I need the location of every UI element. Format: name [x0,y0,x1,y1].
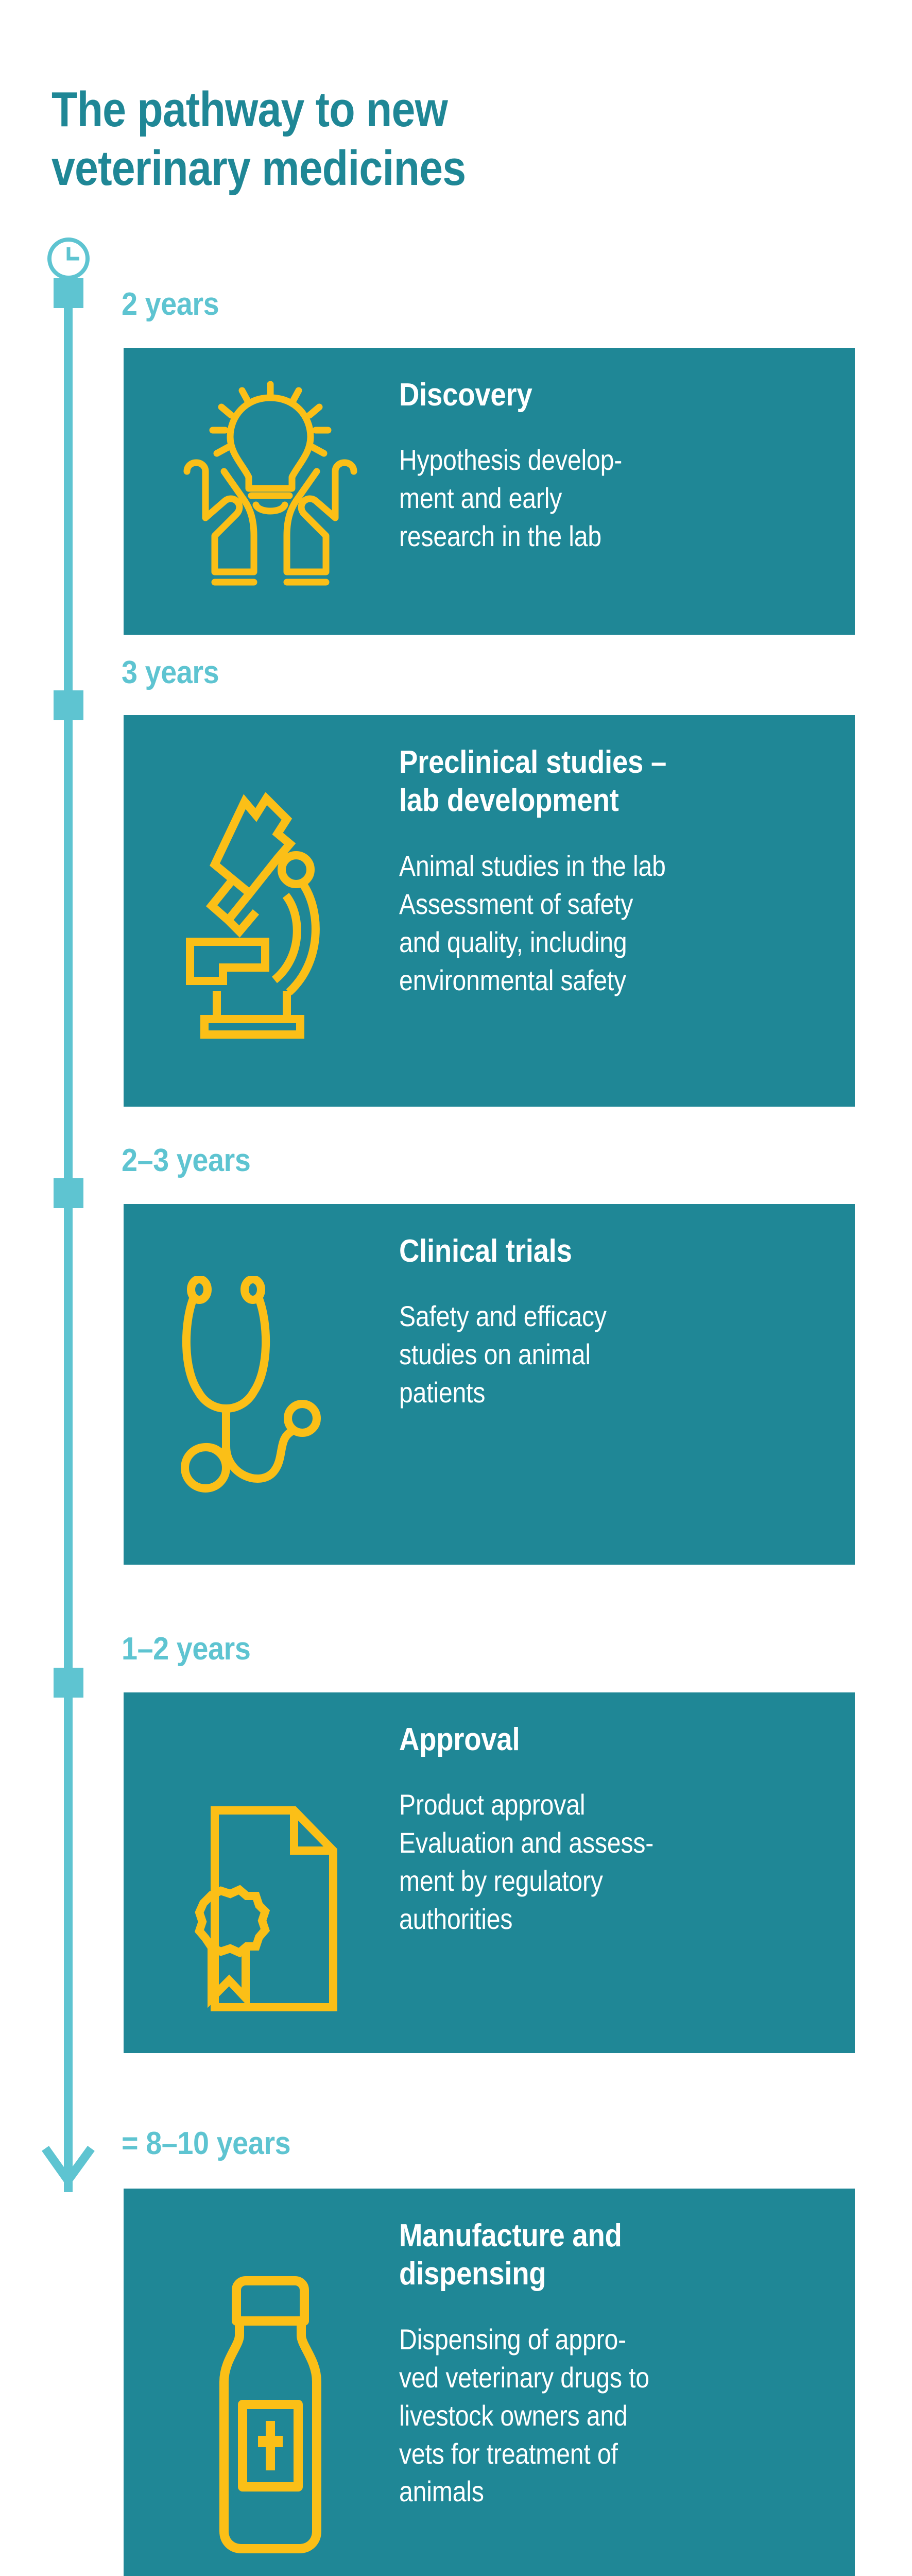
step-duration-label: 1–2 years [122,1633,250,1665]
card-text: Animal studies in the lab Assessment of … [399,847,753,999]
card-text: Product approval Evaluation and assess- … [399,1786,753,1938]
lightbulb-in-hands-icon [167,381,373,603]
card-body: Manufacture and dispensing Dispensing of… [399,2217,811,2511]
card-heading: Approval [399,1721,762,1759]
step-duration-label: 2 years [122,289,219,320]
card-heading: Manufacture and dispensing [399,2217,762,2294]
step-card[interactable]: Preclinical studies – lab development An… [124,715,855,1107]
timeline-marker-1 [54,278,83,308]
microscope-icon [167,792,373,1040]
card-text: Safety and efficacy studies on animal pa… [399,1297,753,1412]
down-arrow-icon [41,2133,95,2190]
step-card[interactable]: Clinical trials Safety and efficacy stud… [124,1204,855,1565]
timeline-marker-3 [54,1178,83,1208]
timeline-marker-4 [54,1668,83,1698]
card-heading: Clinical trials [399,1232,762,1270]
card-text: Hypothesis develop- ment and early resea… [399,441,753,555]
timeline-rail [0,227,134,2200]
step-duration-label: = 8–10 years [122,2128,290,2160]
card-heading: Preclinical studies – lab development [399,743,762,820]
medicine-bottle-icon [167,2274,373,2562]
card-text: Dispensing of appro- ved veterinary drug… [399,2320,753,2511]
stethoscope-icon [167,1276,373,1498]
card-heading: Discovery [399,376,762,414]
card-body: Clinical trials Safety and efficacy stud… [399,1232,811,1412]
timeline-marker-2 [54,690,83,720]
step-card[interactable]: Manufacture and dispensing Dispensing of… [124,2189,855,2576]
card-body: Discovery Hypothesis develop- ment and e… [399,376,811,555]
step-duration-label: 2–3 years [122,1145,250,1177]
step-duration-label: 3 years [122,657,219,689]
certificate-document-icon [167,1803,373,2009]
timeline-line [64,307,73,2192]
card-body: Preclinical studies – lab development An… [399,743,811,999]
step-card[interactable]: Discovery Hypothesis develop- ment and e… [124,348,855,635]
page-title: The pathway to new veterinary medicines [51,80,627,197]
card-body: Approval Product approval Evaluation and… [399,1721,811,1938]
step-card[interactable]: Approval Product approval Evaluation and… [124,1692,855,2053]
clock-icon [46,236,91,281]
